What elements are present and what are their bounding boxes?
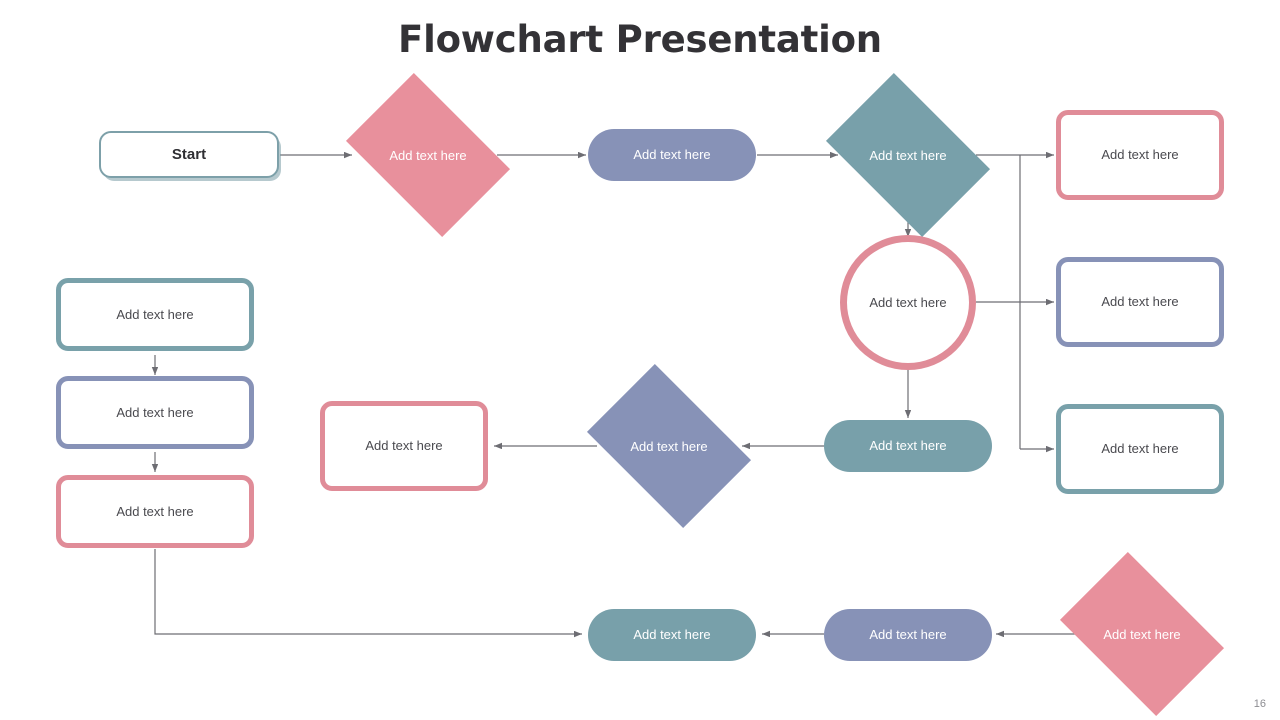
node-row1-diamond-pink[interactable]: Add text here bbox=[360, 107, 496, 203]
diamond-shape bbox=[587, 364, 751, 528]
node-row1-pill-purple-label: Add text here bbox=[623, 147, 720, 163]
node-row1-pill-purple[interactable]: Add text here bbox=[588, 129, 756, 181]
node-start-label: Start bbox=[162, 146, 216, 164]
node-left-box-teal-label: Add text here bbox=[106, 307, 203, 323]
node-mid-box-pink[interactable]: Add text here bbox=[320, 401, 488, 491]
node-center-circle-pink-label: Add text here bbox=[859, 295, 956, 311]
node-left-box-teal[interactable]: Add text here bbox=[56, 278, 254, 351]
diamond-shape bbox=[1060, 552, 1224, 716]
node-left-box-pink-label: Add text here bbox=[106, 504, 203, 520]
node-mid-box-pink-label: Add text here bbox=[355, 438, 452, 454]
node-right-box-purple-label: Add text here bbox=[1091, 294, 1188, 310]
node-right-box-teal[interactable]: Add text here bbox=[1056, 404, 1224, 494]
node-left-box-purple-label: Add text here bbox=[106, 405, 203, 421]
node-mid-pill-teal-label: Add text here bbox=[859, 438, 956, 454]
connector-leftbox3-to-bottompill bbox=[155, 549, 582, 634]
node-bottom-diamond-pink[interactable]: Add text here bbox=[1074, 586, 1210, 682]
node-mid-pill-teal[interactable]: Add text here bbox=[824, 420, 992, 472]
node-bottom-pill-purple[interactable]: Add text here bbox=[824, 609, 992, 661]
node-right-box-pink[interactable]: Add text here bbox=[1056, 110, 1224, 200]
node-center-circle-pink[interactable]: Add text here bbox=[840, 235, 976, 370]
node-left-box-pink[interactable]: Add text here bbox=[56, 475, 254, 548]
node-right-box-teal-label: Add text here bbox=[1091, 441, 1188, 457]
node-mid-diamond-purple[interactable]: Add text here bbox=[601, 398, 737, 494]
node-bottom-pill-teal-label: Add text here bbox=[623, 627, 720, 643]
slide-canvas: Flowchart Presentation bbox=[0, 0, 1280, 720]
node-bottom-pill-teal[interactable]: Add text here bbox=[588, 609, 756, 661]
node-left-box-purple[interactable]: Add text here bbox=[56, 376, 254, 449]
diamond-shape bbox=[826, 73, 990, 237]
node-bottom-pill-purple-label: Add text here bbox=[859, 627, 956, 643]
node-start[interactable]: Start bbox=[99, 131, 279, 178]
node-right-box-purple[interactable]: Add text here bbox=[1056, 257, 1224, 347]
node-row1-diamond-teal[interactable]: Add text here bbox=[840, 107, 976, 203]
page-title: Flowchart Presentation bbox=[0, 18, 1280, 61]
page-number: 16 bbox=[1254, 698, 1266, 710]
diamond-shape bbox=[346, 73, 510, 237]
node-right-box-pink-label: Add text here bbox=[1091, 147, 1188, 163]
